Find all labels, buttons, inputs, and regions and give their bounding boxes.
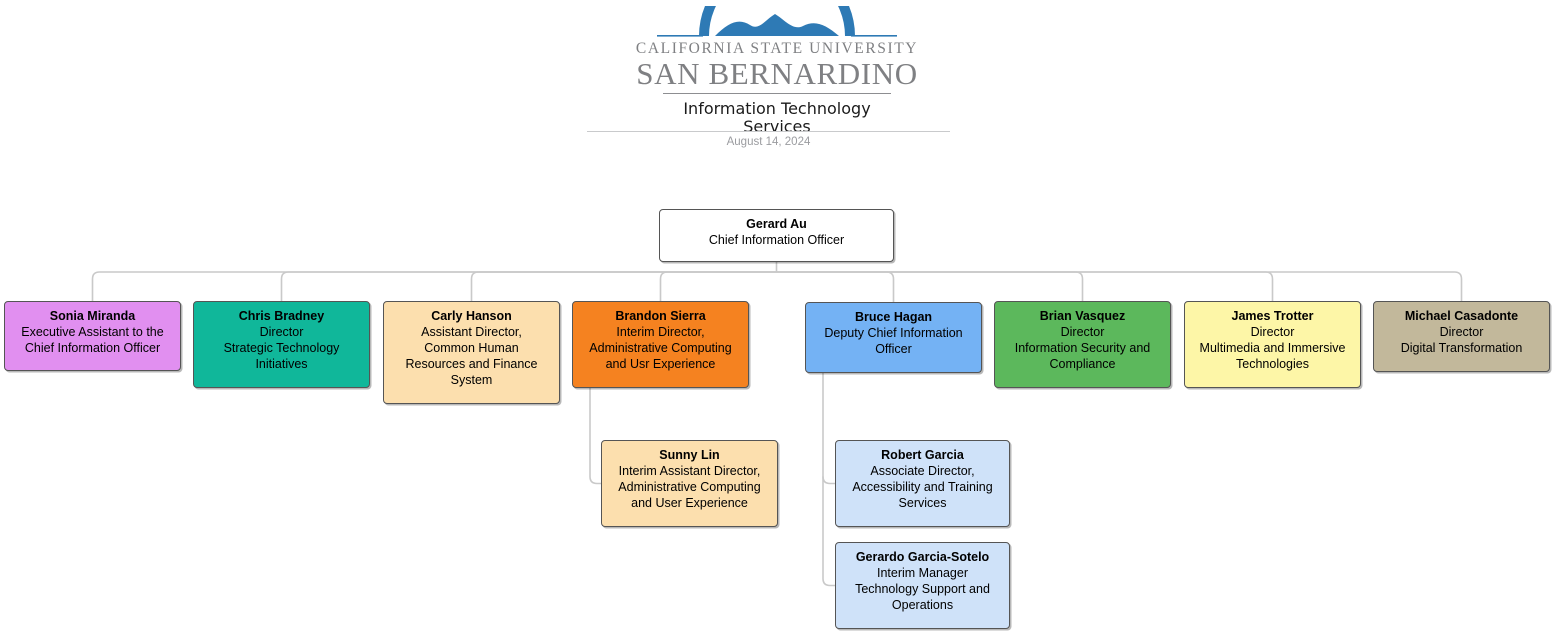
connector-to-sunny-lin xyxy=(590,477,601,484)
connector-to-chris-bradney xyxy=(282,272,777,301)
connector-to-carly-hanson xyxy=(472,272,777,301)
org-node-brandon-sierra[interactable]: Brandon SierraInterim Director, Administ… xyxy=(572,301,749,388)
connector-to-sonia-miranda xyxy=(93,272,777,301)
org-node-chris-bradney[interactable]: Chris BradneyDirector Strategic Technolo… xyxy=(193,301,370,388)
connector-to-robert-garcia xyxy=(823,477,835,484)
connector-to-brandon-sierra xyxy=(661,272,777,301)
org-node-title: Associate Director, Accessibility and Tr… xyxy=(842,463,1003,511)
org-node-title: Interim Assistant Director, Administrati… xyxy=(608,463,771,511)
org-node-name: Chris Bradney xyxy=(200,308,363,324)
org-node-title: Director Digital Transformation xyxy=(1380,324,1543,356)
org-node-robert-garcia[interactable]: Robert GarciaAssociate Director, Accessi… xyxy=(835,440,1010,527)
org-node-name: Brandon Sierra xyxy=(579,308,742,324)
org-node-title: Assistant Director, Common Human Resourc… xyxy=(390,324,553,388)
org-node-title: Executive Assistant to the Chief Informa… xyxy=(11,324,174,356)
org-node-title: Deputy Chief Information Officer xyxy=(812,325,975,357)
org-node-sonia-miranda[interactable]: Sonia MirandaExecutive Assistant to the … xyxy=(4,301,181,371)
org-node-title: Director Multimedia and Immersive Techno… xyxy=(1191,324,1354,372)
org-node-title: Director Strategic Technology Initiative… xyxy=(200,324,363,372)
org-node-name: Robert Garcia xyxy=(842,447,1003,463)
connector-to-gerardo-garcia-sotelo xyxy=(823,579,835,586)
connector-to-james-trotter xyxy=(777,272,1273,301)
org-node-name: Gerard Au xyxy=(666,216,887,232)
org-chart: Gerard AuChief Information OfficerSonia … xyxy=(0,0,1554,633)
org-node-title: Chief Information Officer xyxy=(666,232,887,248)
org-node-gerardo-garcia-sotelo[interactable]: Gerardo Garcia-SoteloInterim Manager Tec… xyxy=(835,542,1010,629)
org-node-name: Michael Casadonte xyxy=(1380,308,1543,324)
org-node-gerard-au[interactable]: Gerard AuChief Information Officer xyxy=(659,209,894,262)
org-node-name: Carly Hanson xyxy=(390,308,553,324)
connector-to-michael-casadonte xyxy=(777,272,1462,301)
org-node-title: Director Information Security and Compli… xyxy=(1001,324,1164,372)
org-node-name: Brian Vasquez xyxy=(1001,308,1164,324)
connector-to-brian-vasquez xyxy=(777,272,1083,301)
org-node-carly-hanson[interactable]: Carly HansonAssistant Director, Common H… xyxy=(383,301,560,404)
org-node-name: Bruce Hagan xyxy=(812,309,975,325)
org-node-title: Interim Manager Technology Support and O… xyxy=(842,565,1003,613)
org-node-name: James Trotter xyxy=(1191,308,1354,324)
org-node-name: Sonia Miranda xyxy=(11,308,174,324)
org-node-james-trotter[interactable]: James TrotterDirector Multimedia and Imm… xyxy=(1184,301,1361,388)
org-node-title: Interim Director, Administrative Computi… xyxy=(579,324,742,372)
org-node-sunny-lin[interactable]: Sunny LinInterim Assistant Director, Adm… xyxy=(601,440,778,527)
connector-to-bruce-hagan xyxy=(777,272,894,302)
org-node-michael-casadonte[interactable]: Michael CasadonteDirector Digital Transf… xyxy=(1373,301,1550,372)
org-node-name: Sunny Lin xyxy=(608,447,771,463)
org-node-bruce-hagan[interactable]: Bruce HaganDeputy Chief Information Offi… xyxy=(805,302,982,373)
org-node-brian-vasquez[interactable]: Brian VasquezDirector Information Securi… xyxy=(994,301,1171,388)
org-node-name: Gerardo Garcia-Sotelo xyxy=(842,549,1003,565)
